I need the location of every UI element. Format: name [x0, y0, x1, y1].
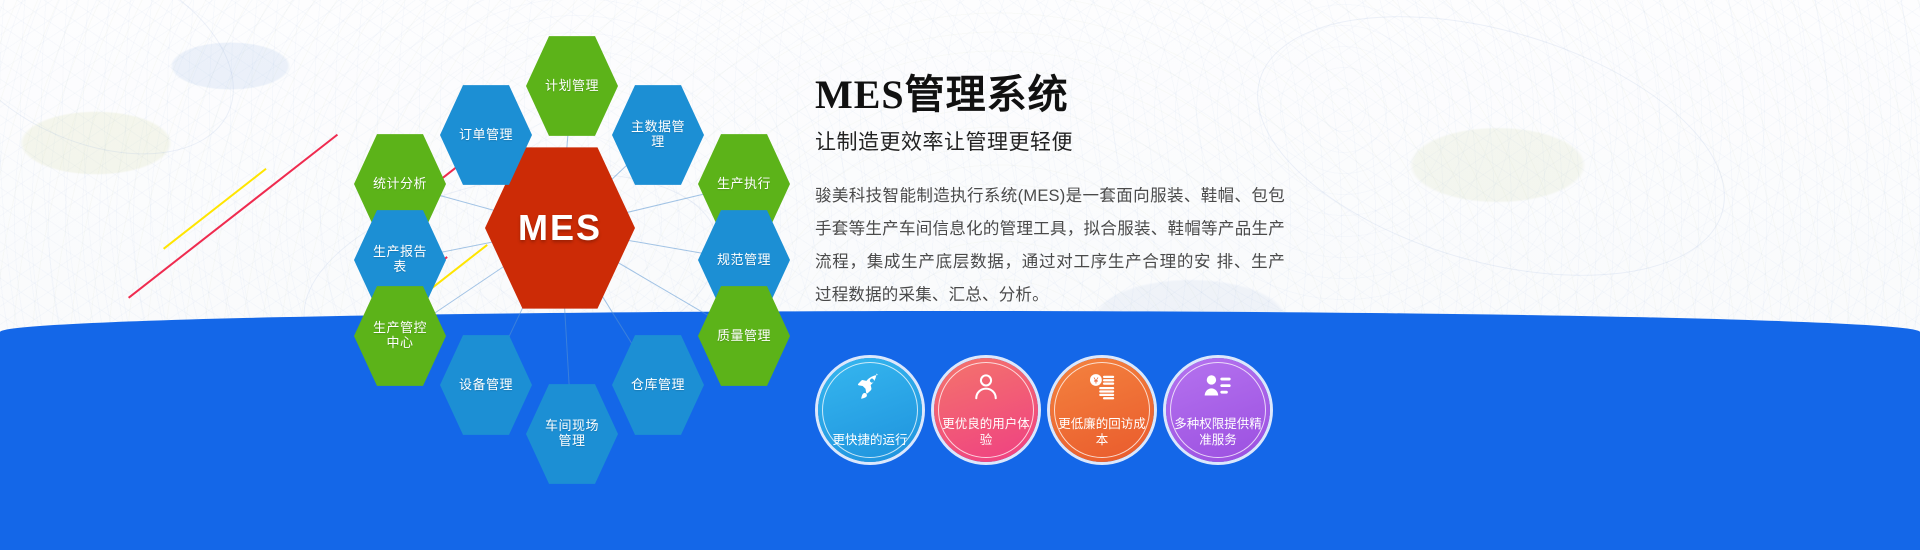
mes-banner: MES计划管理订单管理主数据管理统计分析生产执行生产报告表规范管理生产管控中心质…	[0, 0, 1920, 550]
page-title: MES管理系统	[815, 62, 1285, 120]
hex-node-label: 设备管理	[459, 378, 513, 393]
hex-node-label: 统计分析	[373, 177, 427, 192]
feature-circle-1[interactable]: 更快捷的运行	[818, 358, 922, 462]
hex-node-label: 订单管理	[459, 128, 513, 143]
decor-line-2	[128, 134, 338, 299]
hex-node-label: 主数据管理	[627, 120, 689, 150]
user-list-icon	[1203, 372, 1233, 402]
feature-circle-4[interactable]: 多种权限提供精准服务	[1166, 358, 1270, 462]
hex-node-label: 生产执行	[717, 177, 771, 192]
hex-node-label: 生产报告表	[369, 245, 431, 275]
hero-description: 骏美科技智能制造执行系统(MES)是一套面向服装、鞋帽、包包手套等生产车间信息化…	[815, 180, 1285, 312]
feature-label: 更快捷的运行	[824, 432, 916, 448]
decor-line-1	[163, 168, 267, 250]
feature-label: 更优良的用户体验	[940, 416, 1032, 448]
background-swirl-1	[0, 0, 266, 196]
hex-node-label: 生产管控中心	[369, 321, 431, 351]
page-subtitle: 让制造更效率让管理更轻便	[815, 126, 1285, 156]
hex-node-label: 车间现场管理	[541, 419, 603, 449]
hex-node-3[interactable]: 主数据管理	[612, 83, 704, 187]
hex-node-label: 计划管理	[545, 79, 599, 94]
hex-node-label: 仓库管理	[631, 378, 685, 393]
hex-node-8[interactable]: 生产管控中心	[354, 284, 446, 388]
hex-node-label: 规范管理	[717, 253, 771, 268]
coins-yen-icon: ¥	[1087, 372, 1117, 402]
feature-circle-3[interactable]: ¥更低廉的回访成本	[1050, 358, 1154, 462]
feature-circle-list: 更快捷的运行更优良的用户体验¥更低廉的回访成本多种权限提供精准服务	[818, 358, 1270, 462]
hero-text-column: MES管理系统 让制造更效率让管理更轻便 骏美科技智能制造执行系统(MES)是一…	[815, 62, 1285, 312]
background-swirl-3	[1227, 0, 1754, 324]
user-icon	[971, 372, 1001, 402]
hex-node-1[interactable]: 计划管理	[526, 34, 618, 138]
hex-node-11[interactable]: 仓库管理	[612, 333, 704, 437]
rocket-icon	[855, 372, 885, 402]
hex-node-label: 质量管理	[717, 329, 771, 344]
hex-node-9[interactable]: 质量管理	[698, 284, 790, 388]
feature-circle-2[interactable]: 更优良的用户体验	[934, 358, 1038, 462]
feature-label: 多种权限提供精准服务	[1172, 416, 1264, 448]
feature-label: 更低廉的回访成本	[1056, 416, 1148, 448]
hex-node-10[interactable]: 设备管理	[440, 333, 532, 437]
svg-text:¥: ¥	[1093, 375, 1099, 385]
hex-node-center-label: MES	[518, 207, 602, 248]
hexagon-diagram: MES计划管理订单管理主数据管理统计分析生产执行生产报告表规范管理生产管控中心质…	[330, 20, 790, 440]
